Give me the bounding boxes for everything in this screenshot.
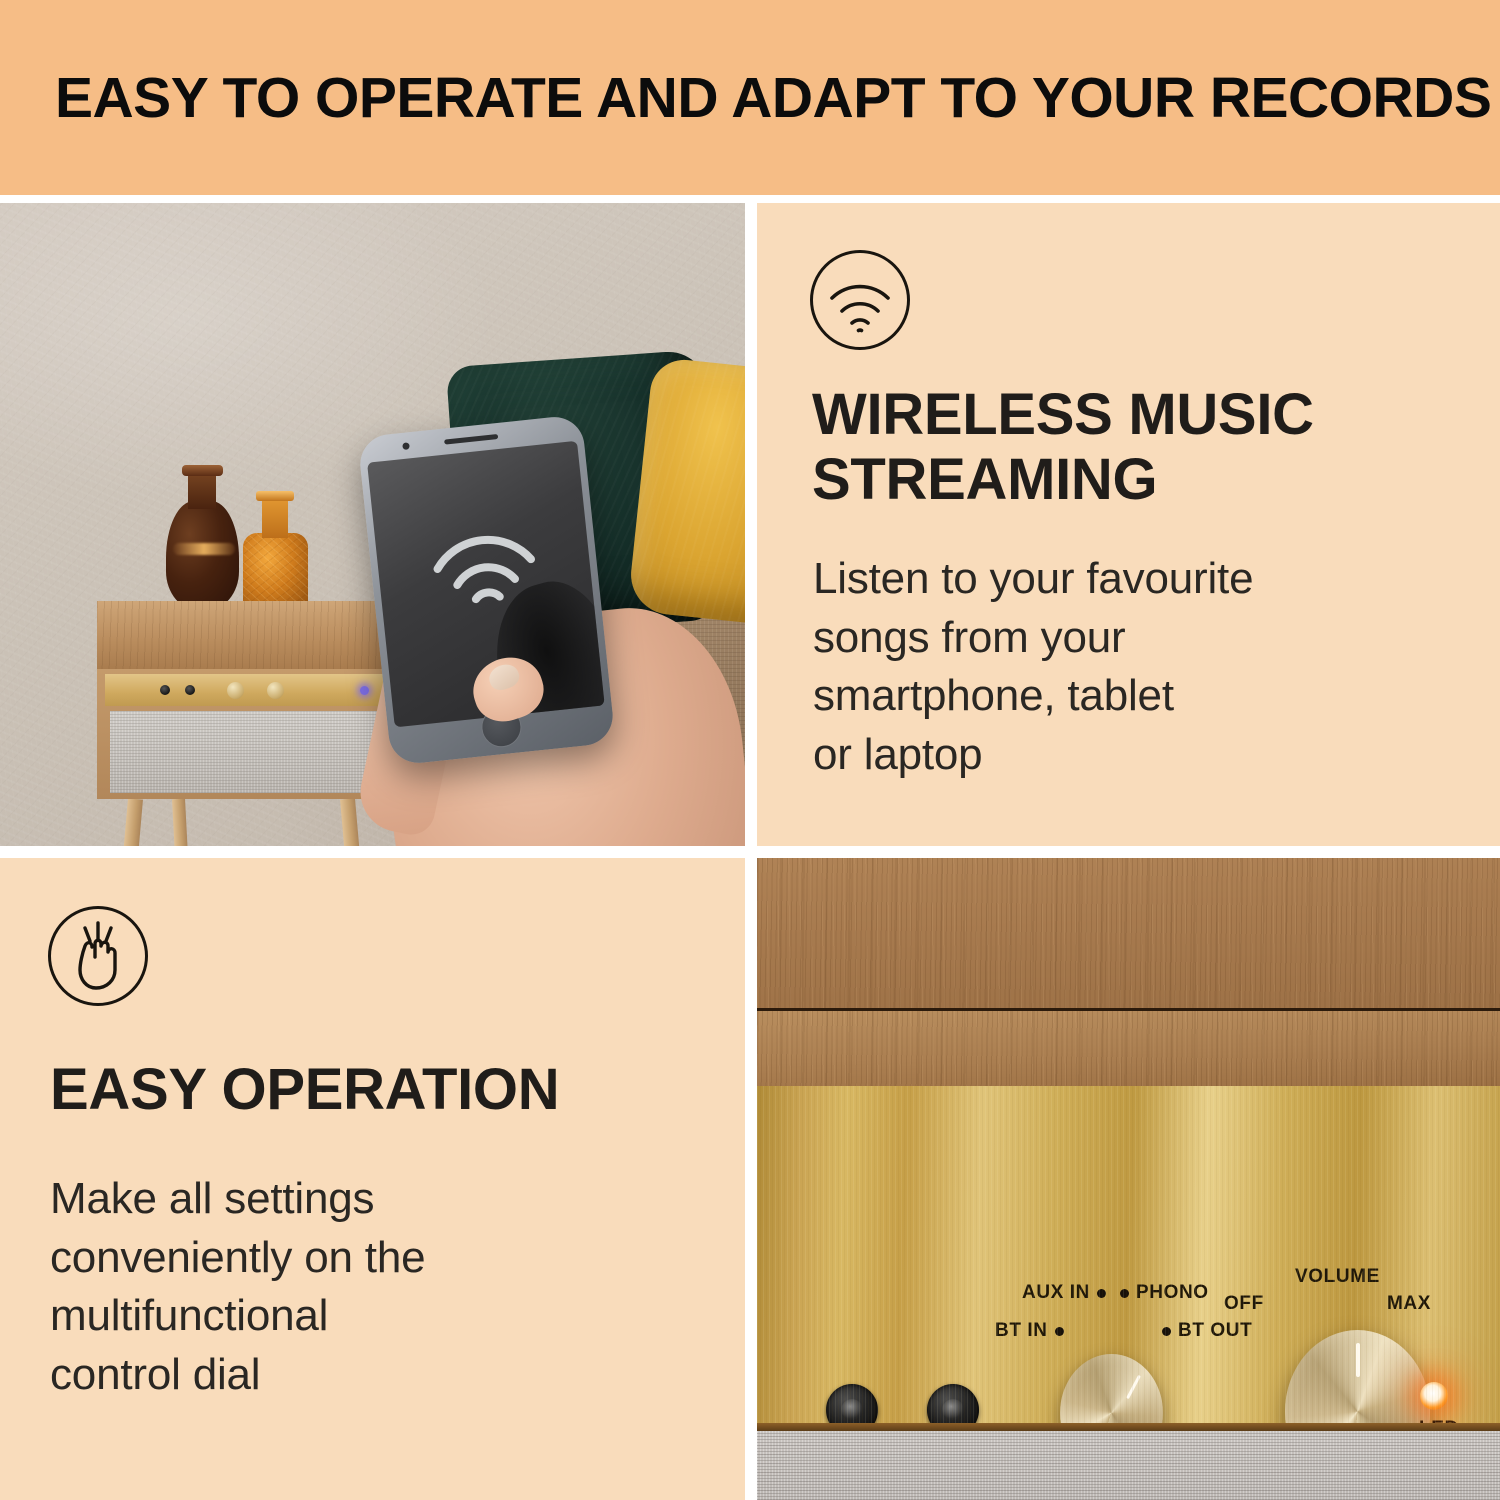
infographic-page: EASY TO OPERATE AND ADAPT TO YOUR RECORD…: [0, 0, 1500, 1500]
body-line-2: songs from your: [813, 609, 1253, 668]
led-indicator: [1420, 1382, 1448, 1410]
phone-earpiece: [444, 434, 498, 445]
speaker-control-strip: [105, 674, 389, 706]
heading-line-1: WIRELESS MUSIC: [812, 383, 1314, 448]
phone-front-camera: [402, 442, 410, 450]
wireless-streaming-panel: WIRELESS MUSIC STREAMING Listen to your …: [757, 203, 1500, 846]
gold-control-panel: AUX IN AUX IN PHONO BT IN: [757, 1086, 1500, 1428]
room-scene-photo: [0, 203, 745, 846]
dark-vase-lip: [182, 465, 223, 476]
volume-knob-pointer: [1356, 1343, 1360, 1377]
selector-label-aux-in-text: AUX IN: [1022, 1282, 1090, 1304]
mini-volume-knob: [267, 682, 284, 699]
volume-off-label: OFF: [1224, 1293, 1264, 1315]
easy-operation-panel: EASY OPERATION Make all settings conveni…: [0, 858, 745, 1500]
volume-max-label: MAX: [1387, 1293, 1431, 1315]
selector-label-aux-in: AUX IN: [1022, 1282, 1106, 1304]
body-line-4: control dial: [50, 1346, 425, 1405]
body-line-1: Make all settings: [50, 1170, 425, 1229]
wood-front-edge: [757, 1011, 1500, 1086]
operation-panel-body: Make all settings conveniently on the mu…: [50, 1170, 425, 1404]
volume-title-label: VOLUME: [1295, 1266, 1380, 1288]
selector-dot-phono: [1120, 1289, 1129, 1298]
heading-line-1: EASY OPERATION: [50, 1058, 559, 1123]
selector-knob-pointer: [1126, 1375, 1141, 1399]
wifi-signal-icon: [425, 523, 543, 614]
selector-label-bt-out-text: BT OUT: [1178, 1320, 1252, 1342]
selector-label-bt-in-text: BT IN: [995, 1320, 1048, 1342]
body-line-3: smartphone, tablet: [813, 667, 1253, 726]
speaker-grille: [110, 711, 384, 793]
body-line-4: or laptop: [813, 726, 1253, 785]
mini-aux-jack: [160, 685, 170, 695]
mini-headphone-jack: [185, 685, 195, 695]
selector-label-bt-out: BT OUT: [1162, 1320, 1252, 1342]
body-line-2: conveniently on the: [50, 1229, 425, 1288]
panel-bottom-edge: [757, 1423, 1500, 1431]
amber-glass-bottle: [243, 533, 308, 611]
selector-dot-bt-in: [1055, 1327, 1064, 1336]
wireless-panel-heading: WIRELESS MUSIC STREAMING: [812, 383, 1314, 513]
room-photo-canvas: [0, 203, 745, 846]
wifi-signal-icon: [810, 250, 910, 350]
tapping-hand-icon: [48, 906, 148, 1006]
selector-label-phono-text: PHONO: [1136, 1282, 1209, 1304]
amber-bottle-lip: [256, 491, 294, 501]
speaker-fabric-grille: [757, 1431, 1500, 1500]
body-line-3: multifunctional: [50, 1287, 425, 1346]
body-line-1: Listen to your favourite: [813, 550, 1253, 609]
speaker-device: AUX IN AUX IN PHONO BT IN: [757, 858, 1500, 1500]
dark-vase-highlight: [173, 543, 235, 555]
selector-dot-aux-in: [1097, 1289, 1106, 1298]
heading-line-2: STREAMING: [812, 448, 1314, 513]
wireless-panel-body: Listen to your favourite songs from your…: [813, 550, 1253, 784]
page-title: EASY TO OPERATE AND ADAPT TO YOUR RECORD…: [55, 65, 1491, 131]
mini-selector-knob: [227, 682, 244, 699]
speaker-table-top: [97, 601, 397, 669]
dark-glass-vase: [166, 501, 239, 611]
control-panel-photo: AUX IN AUX IN PHONO BT IN: [757, 858, 1500, 1500]
selector-label-bt-in: BT IN: [995, 1320, 1064, 1342]
header-banner: EASY TO OPERATE AND ADAPT TO YOUR RECORD…: [0, 0, 1500, 195]
amber-bottle-neck: [262, 496, 288, 538]
operation-panel-heading: EASY OPERATION: [50, 1058, 559, 1123]
selector-dot-bt-out: [1162, 1327, 1171, 1336]
mini-led-indicator: [360, 686, 369, 695]
selector-label-phono: PHONO: [1120, 1282, 1209, 1304]
wood-top-surface: [757, 858, 1500, 1008]
